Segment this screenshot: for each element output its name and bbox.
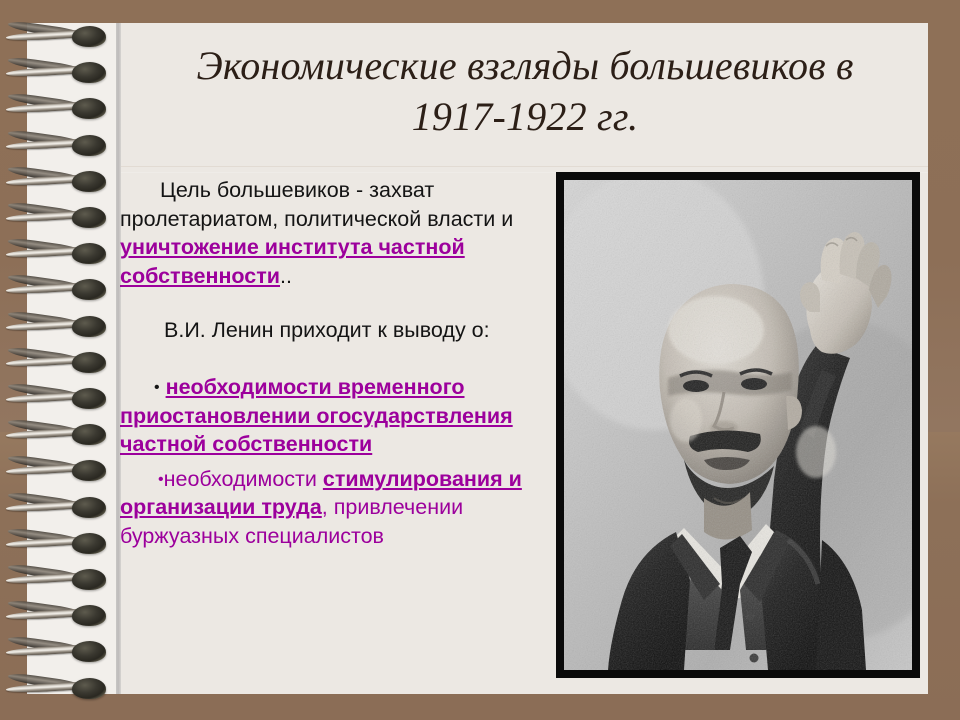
page-title-line-1: Экономические взгляды большевиков в	[196, 43, 853, 88]
bullet-1-highlight: необходимости временного приостановлении…	[120, 375, 513, 456]
lenin-photo	[564, 180, 912, 670]
lenin-photo-illustration	[564, 180, 912, 670]
paragraph-goal-plain: Цель большевиков - захват пролетариатом,…	[120, 178, 513, 231]
title-divider	[121, 166, 928, 167]
paragraph-lenin-conclusion: В.И. Ленин приходит к выводу о:	[120, 316, 550, 345]
slide: Экономические взгляды большевиков в 1917…	[0, 0, 960, 720]
lenin-photo-frame	[556, 172, 920, 678]
body-text-column: Цель большевиков - захват пролетариатом,…	[120, 176, 550, 557]
bullet-dot-icon: •	[154, 379, 160, 396]
bullet-list: • необходимости временного приостановлен…	[120, 373, 550, 551]
slide-paper-left-strip	[27, 23, 119, 694]
list-item: • необходимости временного приостановлен…	[120, 373, 550, 459]
page-title-line-2: 1917-1922 гг.	[412, 94, 639, 139]
bullet-2-plain-before: необходимости	[164, 467, 323, 491]
paragraph-goal: Цель большевиков - захват пролетариатом,…	[120, 176, 550, 290]
list-item: •необходимости стимулирования и организа…	[120, 465, 550, 551]
page-title: Экономические взгляды большевиков в 1917…	[130, 40, 920, 142]
paragraph-goal-highlight: уничтожение института частной собственно…	[120, 235, 465, 288]
paragraph-goal-suffix: ..	[280, 264, 292, 288]
